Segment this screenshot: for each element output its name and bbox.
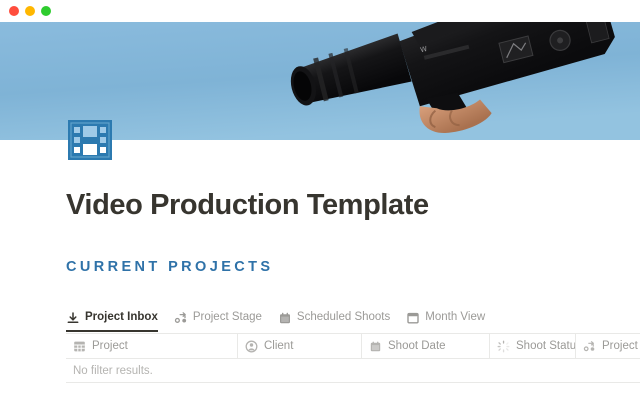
table-empty-message: No filter results. — [66, 359, 640, 383]
column-header-label: Project Sta — [602, 340, 640, 352]
app-window: Sankyo EM-30M W — [0, 0, 640, 400]
page-title: Video Production Template — [66, 190, 429, 222]
table-header-row: Project Client — [66, 333, 640, 359]
tab-label: Project Inbox — [85, 312, 158, 324]
board-stage-icon — [174, 311, 188, 325]
view-tabs: Project Inbox Project Stage — [66, 308, 485, 332]
projects-table: Project Client — [66, 333, 640, 383]
column-header-label: Client — [264, 340, 293, 352]
minimize-button[interactable] — [25, 6, 35, 16]
person-circle-icon — [245, 340, 258, 353]
calendar-icon — [278, 311, 292, 325]
column-header-label: Project — [92, 340, 128, 352]
inbox-download-icon — [66, 311, 80, 325]
tab-label: Scheduled Shoots — [297, 312, 390, 324]
zoom-button[interactable] — [41, 6, 51, 16]
calendar-month-icon — [406, 311, 420, 325]
column-header-project-stage[interactable]: Project Sta — [576, 333, 640, 359]
column-header-shoot-status[interactable]: Shoot Status — [490, 333, 576, 359]
tab-label: Month View — [425, 312, 485, 324]
close-button[interactable] — [9, 6, 19, 16]
tab-project-stage[interactable]: Project Stage — [174, 311, 262, 332]
traffic-light-buttons — [9, 6, 51, 16]
film-strip-icon[interactable] — [68, 120, 112, 160]
column-header-label: Shoot Date — [388, 340, 446, 352]
column-header-shoot-date[interactable]: Shoot Date — [362, 333, 490, 359]
calendar-icon — [369, 340, 382, 353]
tab-month-view[interactable]: Month View — [406, 311, 485, 332]
column-header-label: Shoot Status — [516, 340, 576, 352]
column-header-project[interactable]: Project — [66, 333, 238, 359]
tab-scheduled-shoots[interactable]: Scheduled Shoots — [278, 311, 390, 332]
grid-table-icon — [73, 340, 86, 353]
spinner-icon — [497, 340, 510, 353]
section-heading: CURRENT PROJECTS — [66, 259, 273, 275]
window-titlebar — [0, 0, 640, 22]
tab-project-inbox[interactable]: Project Inbox — [66, 311, 158, 332]
tab-label: Project Stage — [193, 312, 262, 324]
column-header-client[interactable]: Client — [238, 333, 362, 359]
board-stage-icon — [583, 340, 596, 353]
